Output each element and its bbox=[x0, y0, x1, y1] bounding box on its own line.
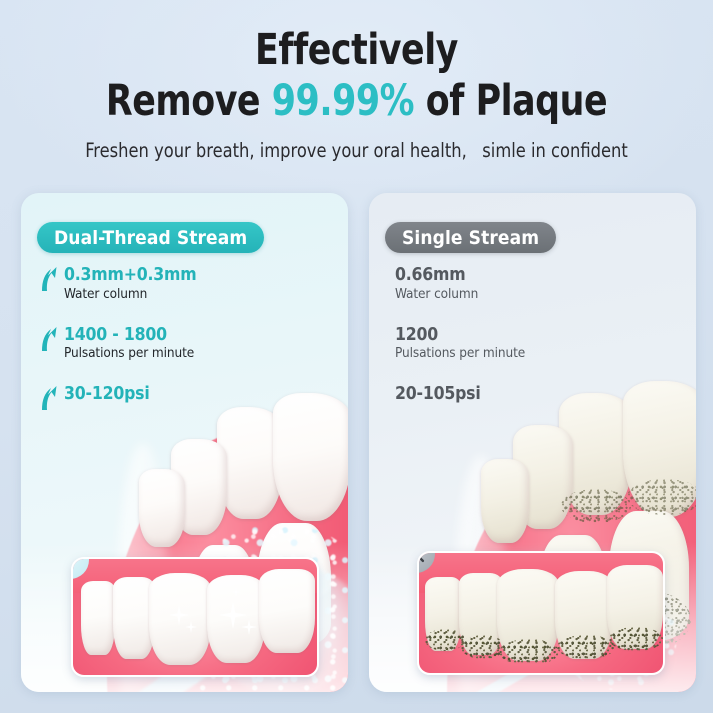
headline-line-2: Remove 99.99% of Plaque bbox=[36, 79, 678, 124]
spec-label: Water column bbox=[395, 286, 525, 303]
inset-plaque-teeth bbox=[417, 551, 665, 675]
badge-single-stream: Single Stream bbox=[385, 222, 556, 253]
sparkle-icon bbox=[231, 587, 241, 597]
panel-dual-thread-stream: Dual-Thread Stream 0.3mm+0.3mm Water col… bbox=[21, 193, 348, 692]
tooth bbox=[139, 469, 185, 547]
plaque-deposit bbox=[425, 629, 465, 651]
headline-percentage: 99.99% bbox=[272, 76, 414, 126]
spec-row-water-column: 0.66mm Water column bbox=[387, 265, 525, 303]
spec-list-dual: 0.3mm+0.3mm Water column 1400 - 1800 Pul… bbox=[39, 265, 196, 427]
sparkle-icon bbox=[185, 621, 197, 633]
spec-value: 1200 bbox=[395, 325, 525, 346]
panel-single-stream: Single Stream 0.66mm Water column 1200 P… bbox=[369, 193, 696, 692]
inset-scene-plaque bbox=[419, 553, 663, 673]
inset-tooth bbox=[259, 569, 315, 653]
spec-row-pulsations: 1400 - 1800 Pulsations per minute bbox=[39, 325, 196, 363]
close-icon bbox=[417, 551, 427, 565]
inset-tooth bbox=[81, 581, 115, 655]
spec-label: Pulsations per minute bbox=[64, 345, 196, 362]
spec-row-water-column: 0.3mm+0.3mm Water column bbox=[39, 265, 196, 303]
headline-line-1: Effectively bbox=[36, 28, 678, 73]
plaque-deposit bbox=[499, 639, 559, 665]
spec-value: 0.3mm+0.3mm bbox=[64, 265, 196, 286]
inset-scene-clean bbox=[73, 559, 317, 675]
tooth bbox=[273, 393, 348, 521]
spec-row-pressure: 20-105psi bbox=[387, 384, 525, 405]
subtitle: Freshen your breath, improve your oral h… bbox=[25, 139, 688, 162]
plaque-deposit bbox=[461, 635, 505, 659]
spec-value: 1400 - 1800 bbox=[64, 325, 196, 346]
spec-list-single: 0.66mm Water column 1200 Pulsations per … bbox=[387, 265, 525, 427]
up-arrow-icon bbox=[39, 326, 58, 352]
spec-row-pulsations: 1200 Pulsations per minute bbox=[387, 325, 525, 363]
plaque-deposit bbox=[627, 479, 696, 515]
header-block: Effectively Remove 99.99% of Plaque Fres… bbox=[0, 0, 713, 162]
spec-value: 20-105psi bbox=[395, 384, 525, 405]
headline-suffix: of Plaque bbox=[414, 76, 607, 126]
check-icon bbox=[71, 557, 82, 572]
plaque-deposit bbox=[557, 635, 615, 659]
badge-dual-thread-stream: Dual-Thread Stream bbox=[37, 222, 264, 253]
spec-row-pressure: 30-120psi bbox=[39, 384, 196, 405]
spec-label: Pulsations per minute bbox=[395, 345, 525, 362]
tooth bbox=[481, 459, 529, 543]
spec-value: 0.66mm bbox=[395, 265, 525, 286]
spec-label: Water column bbox=[64, 286, 196, 303]
inset-clean-teeth bbox=[71, 557, 319, 677]
up-arrow-icon bbox=[39, 385, 58, 411]
sparkle-icon bbox=[241, 619, 257, 635]
up-arrow-icon bbox=[39, 266, 58, 292]
headline-prefix: Remove bbox=[106, 76, 272, 126]
infographic-canvas: Effectively Remove 99.99% of Plaque Fres… bbox=[0, 0, 713, 713]
plaque-deposit bbox=[609, 627, 663, 651]
spec-value: 30-120psi bbox=[64, 384, 196, 405]
plaque-deposit bbox=[561, 489, 631, 523]
